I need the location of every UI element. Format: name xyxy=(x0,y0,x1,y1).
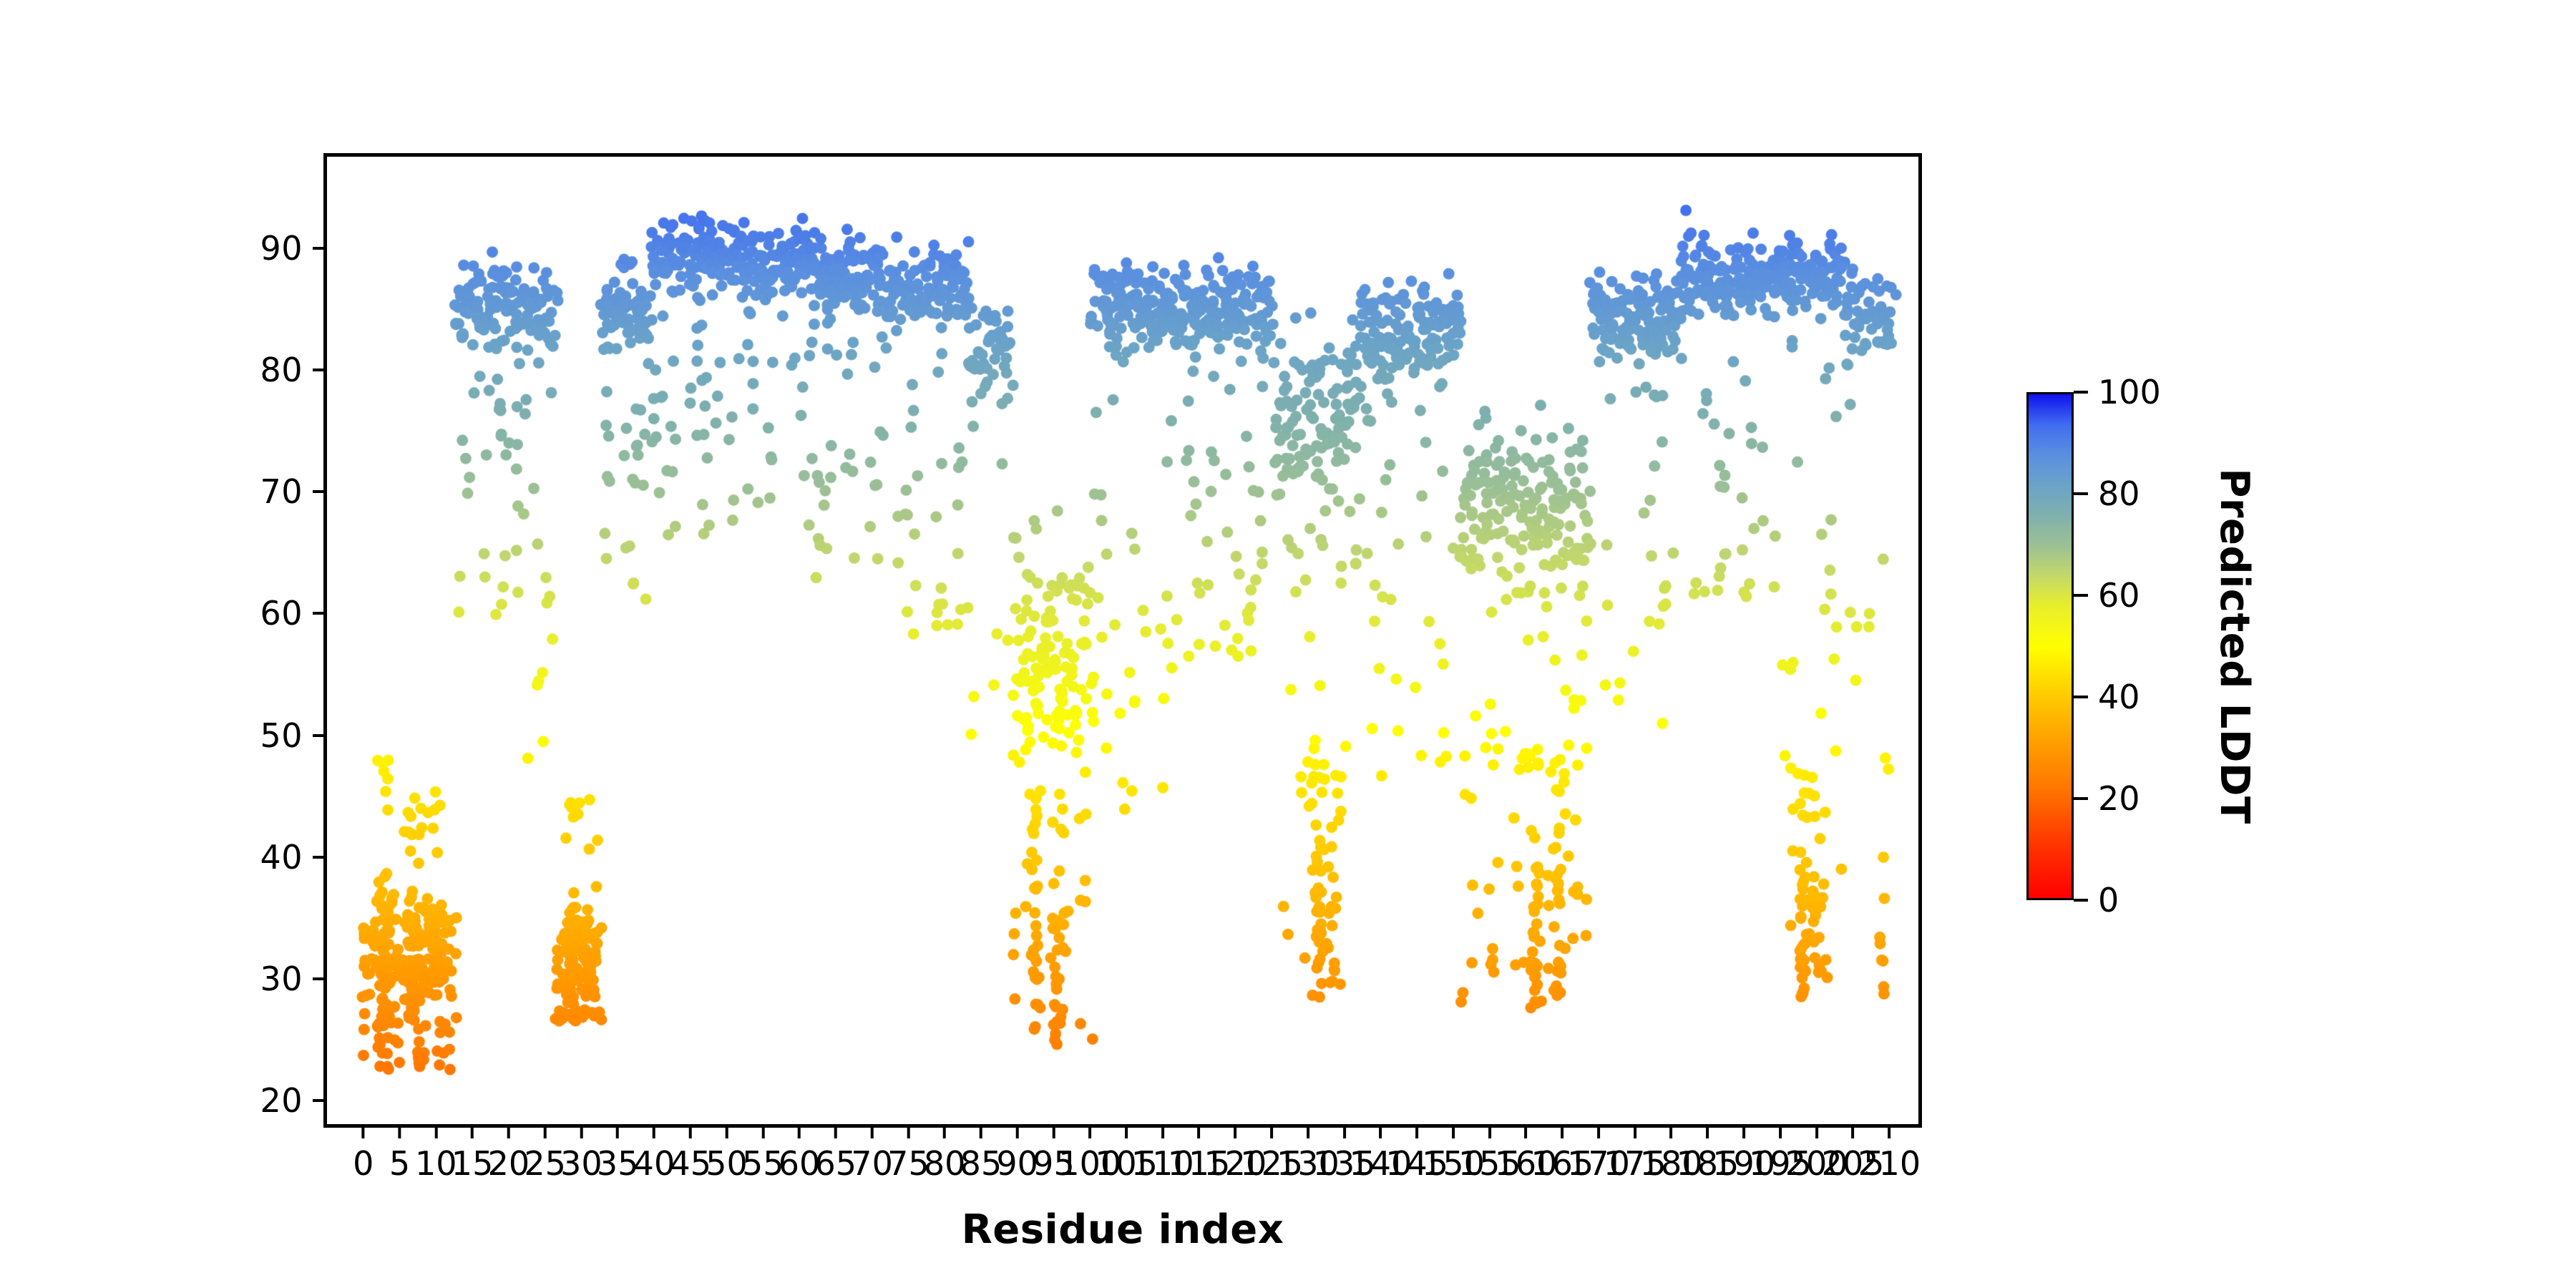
x-tick-label: 0 xyxy=(353,1147,374,1180)
x-tick-label: 50 xyxy=(706,1147,748,1180)
x-tick: 30 xyxy=(560,1124,602,1180)
y-tick-label: 50 xyxy=(260,719,313,752)
y-tick: 90 xyxy=(260,232,327,265)
x-tick: 40 xyxy=(633,1124,675,1180)
x-tick-label: 15 xyxy=(452,1147,494,1180)
x-tick: 80 xyxy=(924,1124,966,1180)
y-tick-label: 70 xyxy=(260,475,313,508)
x-tick-label: 70 xyxy=(851,1147,893,1180)
x-tick-mark xyxy=(1088,1124,1091,1138)
x-tick-mark xyxy=(871,1124,874,1138)
colorbar-tick-label: 80 xyxy=(2098,477,2140,510)
x-tick-label: 65 xyxy=(815,1147,857,1180)
x-tick-mark xyxy=(1270,1124,1273,1138)
x-tick-mark xyxy=(761,1124,764,1138)
x-tick: 210 xyxy=(1858,1124,1921,1180)
colorbar-tick: 60 xyxy=(2074,579,2140,612)
x-tick-mark xyxy=(1525,1124,1528,1138)
x-tick-mark xyxy=(1343,1124,1346,1138)
x-tick-mark xyxy=(1815,1124,1818,1138)
x-tick-label: 20 xyxy=(488,1147,530,1180)
y-tick: 40 xyxy=(260,841,327,874)
y-axis-title: Predicted LDDT xyxy=(0,0,64,282)
x-tick-label: 60 xyxy=(779,1147,821,1180)
x-tick: 5 xyxy=(389,1124,410,1180)
x-tick-mark xyxy=(1307,1124,1309,1138)
x-tick-mark xyxy=(1415,1124,1418,1138)
x-tick: 90 xyxy=(996,1124,1038,1180)
y-tick-mark xyxy=(313,977,327,980)
x-tick-mark xyxy=(943,1124,946,1138)
x-tick-mark xyxy=(434,1124,437,1138)
x-tick: 10 xyxy=(415,1124,457,1180)
x-tick: 0 xyxy=(353,1124,374,1180)
y-tick-label: 30 xyxy=(260,962,313,995)
x-tick-mark xyxy=(1452,1124,1455,1138)
colorbar-tick-label: 40 xyxy=(2098,680,2140,713)
x-tick-mark xyxy=(1198,1124,1201,1138)
x-tick-label: 30 xyxy=(560,1147,602,1180)
x-tick: 20 xyxy=(488,1124,530,1180)
x-axis-title: Residue index xyxy=(323,1206,1922,1253)
x-tick-label: 10 xyxy=(415,1147,457,1180)
x-tick-mark xyxy=(907,1124,909,1138)
colorbar-tick: 0 xyxy=(2074,884,2119,917)
y-tick-mark xyxy=(313,490,327,493)
x-tick-mark xyxy=(1597,1124,1600,1138)
x-tick: 70 xyxy=(851,1124,893,1180)
colorbar-tick: 40 xyxy=(2074,680,2140,713)
x-tick: 25 xyxy=(524,1124,566,1180)
figure-canvas: Predicted LDDT 2030405060708090 05101520… xyxy=(0,0,2576,1288)
y-tick-label: 40 xyxy=(260,841,313,874)
x-tick: 45 xyxy=(669,1124,711,1180)
plot-area: 2030405060708090 05101520253035404550556… xyxy=(323,153,1922,1128)
y-tick-label: 20 xyxy=(260,1084,313,1117)
y-tick-mark xyxy=(313,369,327,371)
x-tick-label: 75 xyxy=(887,1147,930,1180)
colorbar-tick: 80 xyxy=(2074,477,2140,510)
y-tick-mark xyxy=(313,612,327,615)
x-tick-mark xyxy=(1052,1124,1055,1138)
x-tick-mark xyxy=(1634,1124,1636,1138)
x-tick-label: 85 xyxy=(960,1147,1002,1180)
x-tick: 65 xyxy=(815,1124,857,1180)
x-tick: 85 xyxy=(960,1124,1002,1180)
x-tick-mark xyxy=(362,1124,365,1138)
x-tick-mark xyxy=(1561,1124,1563,1138)
colorbar-tick-mark xyxy=(2074,797,2088,800)
x-tick-mark xyxy=(1161,1124,1164,1138)
y-tick: 50 xyxy=(260,719,327,752)
y-tick: 70 xyxy=(260,475,327,508)
y-tick: 30 xyxy=(260,962,327,995)
x-tick-mark xyxy=(544,1124,547,1138)
y-tick-mark xyxy=(313,1099,327,1102)
x-tick: 60 xyxy=(779,1124,821,1180)
colorbar-tick-mark xyxy=(2074,899,2088,902)
x-tick: 15 xyxy=(452,1124,494,1180)
x-tick-mark xyxy=(1779,1124,1782,1138)
scatter-points-layer xyxy=(327,157,1918,1124)
x-tick-label: 40 xyxy=(633,1147,675,1180)
x-tick-mark xyxy=(1742,1124,1745,1138)
x-tick-mark xyxy=(1488,1124,1491,1138)
x-tick-mark xyxy=(1234,1124,1236,1138)
colorbar-tick-label: 0 xyxy=(2098,884,2119,917)
x-tick-mark xyxy=(834,1124,837,1138)
colorbar-tick-mark xyxy=(2074,594,2088,597)
colorbar-title: Predicted LDDT xyxy=(2205,392,2263,900)
x-tick-mark xyxy=(725,1124,728,1138)
x-tick: 35 xyxy=(597,1124,639,1180)
colorbar-tick: 100 xyxy=(2074,376,2161,409)
x-tick: 55 xyxy=(742,1124,784,1180)
x-tick-mark xyxy=(653,1124,655,1138)
y-tick: 20 xyxy=(260,1084,327,1117)
x-tick-label: 45 xyxy=(669,1147,711,1180)
x-tick-mark xyxy=(507,1124,510,1138)
colorbar-gradient xyxy=(2026,392,2074,900)
x-tick-mark xyxy=(471,1124,474,1138)
x-tick-mark xyxy=(980,1124,982,1138)
colorbar-tick-label: 100 xyxy=(2098,376,2161,409)
x-tick-label: 25 xyxy=(524,1147,566,1180)
y-tick-mark xyxy=(313,247,327,250)
x-tick-mark xyxy=(399,1124,401,1138)
x-tick-mark xyxy=(1670,1124,1673,1138)
y-tick-mark xyxy=(313,734,327,737)
x-tick: 50 xyxy=(706,1124,748,1180)
x-tick-mark xyxy=(689,1124,692,1138)
colorbar-tick-mark xyxy=(2074,696,2088,698)
y-tick: 60 xyxy=(260,597,327,630)
x-tick-mark xyxy=(1125,1124,1128,1138)
y-tick: 80 xyxy=(260,353,327,386)
x-tick-mark xyxy=(1888,1124,1890,1138)
x-tick-mark xyxy=(798,1124,801,1138)
x-tick-mark xyxy=(1706,1124,1709,1138)
colorbar-tick-mark xyxy=(2074,391,2088,394)
x-tick-label: 5 xyxy=(389,1147,410,1180)
y-tick-label: 80 xyxy=(260,353,313,386)
y-tick-mark xyxy=(313,856,327,859)
x-tick: 75 xyxy=(887,1124,930,1180)
x-tick-mark xyxy=(1851,1124,1854,1138)
colorbar-tick-label: 20 xyxy=(2098,782,2140,815)
x-tick-mark xyxy=(1379,1124,1382,1138)
x-tick-label: 55 xyxy=(742,1147,784,1180)
x-tick-label: 90 xyxy=(996,1147,1038,1180)
colorbar-tick: 20 xyxy=(2074,782,2140,815)
y-tick-label: 60 xyxy=(260,597,313,630)
x-tick-mark xyxy=(1016,1124,1019,1138)
x-tick-label: 35 xyxy=(597,1147,639,1180)
y-tick-label: 90 xyxy=(260,232,313,265)
colorbar-tick-label: 60 xyxy=(2098,579,2140,612)
x-tick-mark xyxy=(616,1124,619,1138)
colorbar-tick-mark xyxy=(2074,492,2088,495)
x-tick-label: 210 xyxy=(1858,1147,1921,1180)
x-tick-mark xyxy=(580,1124,582,1138)
x-tick-label: 80 xyxy=(924,1147,966,1180)
colorbar: 020406080100 Predicted LDDT xyxy=(2026,392,2327,900)
